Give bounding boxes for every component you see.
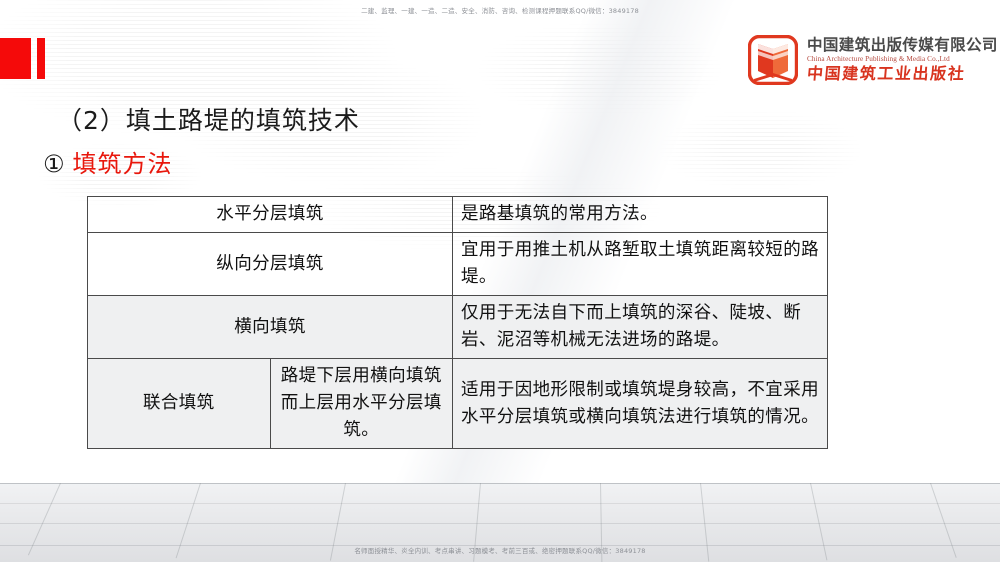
table-row: 水平分层填筑 是路基填筑的常用方法。	[88, 197, 828, 233]
subsection-title: 填筑方法	[73, 150, 173, 178]
logo-press-name-cn: 中国建筑工业出版社	[806, 64, 999, 84]
table-cell-method-subdesc: 路堤下层用横向填筑而上层用水平分层填筑。	[270, 359, 453, 449]
table-cell-method-desc: 仅用于无法自下而上填筑的深谷、陡坡、断岩、泥沼等机械无法进场的路堤。	[453, 296, 828, 359]
filling-methods-table: 水平分层填筑 是路基填筑的常用方法。 纵向分层填筑 宜用于用推土机从路堑取土填筑…	[87, 196, 828, 449]
table-row: 联合填筑 路堤下层用横向填筑而上层用水平分层填筑。 适用于因地形限制或填筑堤身较…	[88, 359, 828, 449]
slide-canvas: 二建、监理、一建、一造、二造、安全、消防、咨询、检测课程押题联系QQ/微信：38…	[0, 0, 1000, 562]
red-bar-accent	[37, 38, 45, 79]
table-cell-method-desc: 是路基填筑的常用方法。	[453, 197, 828, 233]
section-heading: （2）填土路堤的填筑技术	[57, 104, 360, 138]
table-cell-method-desc: 适用于因地形限制或填筑堤身较高，不宜采用水平分层填筑或横向填筑法进行填筑的情况。	[453, 359, 828, 449]
table-row: 横向填筑 仅用于无法自下而上填筑的深谷、陡坡、断岩、泥沼等机械无法进场的路堤。	[88, 296, 828, 359]
open-book-logo-icon	[748, 35, 798, 85]
red-square-accent	[0, 38, 31, 79]
filling-methods-table-wrap: 水平分层填筑 是路基填筑的常用方法。 纵向分层填筑 宜用于用推土机从路堑取土填筑…	[87, 196, 828, 449]
publisher-logo: 中国建筑出版传媒有限公司 China Architecture Publishi…	[748, 31, 986, 89]
subsection-number: ①	[43, 150, 66, 178]
table-cell-method-name: 横向填筑	[88, 296, 453, 359]
table-cell-method-name: 联合填筑	[88, 359, 271, 449]
table-cell-method-desc: 宜用于用推土机从路堑取土填筑距离较短的路堤。	[453, 233, 828, 296]
table-body: 水平分层填筑 是路基填筑的常用方法。 纵向分层填筑 宜用于用推土机从路堑取土填筑…	[88, 197, 828, 449]
table-row: 纵向分层填筑 宜用于用推土机从路堑取土填筑距离较短的路堤。	[88, 233, 828, 296]
table-cell-method-name: 水平分层填筑	[88, 197, 453, 233]
subsection-heading: ①填筑方法	[43, 148, 173, 180]
table-cell-method-name: 纵向分层填筑	[88, 233, 453, 296]
logo-company-name-cn: 中国建筑出版传媒有限公司	[807, 36, 998, 54]
logo-company-name-en: China Architecture Publishing & Media Co…	[807, 54, 998, 64]
promo-text-top: 二建、监理、一建、一造、二造、安全、消防、咨询、检测课程押题联系QQ/微信：38…	[0, 7, 1000, 16]
promo-text-bottom: 名师面授精华、炎全内训、考点串讲、习题模考、考前三百或、绝密押题联系QQ/微信：…	[0, 547, 1000, 556]
